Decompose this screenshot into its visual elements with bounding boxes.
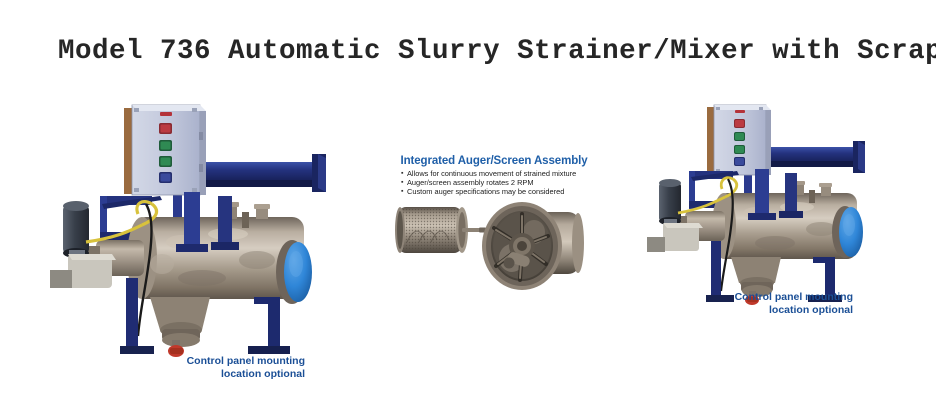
- bullet-icon: ▪: [398, 188, 407, 196]
- auger-photo-end-view: [478, 198, 584, 292]
- blue-cross-beam: [194, 154, 326, 192]
- list-item-text: Custom auger specifications may be consi…: [407, 188, 590, 196]
- machine-photo-left: [42, 92, 342, 364]
- blue-cross-beam: [765, 141, 865, 173]
- page-title: Model 736 Automatic Slurry Strainer/Mixe…: [58, 36, 936, 67]
- bullet-icon: ▪: [398, 179, 407, 187]
- list-item: ▪ Custom auger specifications may be con…: [398, 188, 590, 196]
- machine-photo-right: [645, 95, 907, 307]
- caption-left: Control panel mounting location optional: [150, 355, 305, 380]
- caption-left-line1: Control panel mounting: [150, 355, 305, 368]
- caption-right-line1: Control panel mounting: [718, 291, 853, 304]
- caption-right: Control panel mounting location optional: [718, 291, 853, 316]
- slide-canvas: Model 736 Automatic Slurry Strainer/Mixe…: [0, 0, 936, 415]
- caption-right-line2: location optional: [718, 304, 853, 317]
- auger-info-block: Integrated Auger/Screen Assembly ▪ Allow…: [398, 155, 590, 197]
- auger-photo-side-view: [393, 196, 489, 270]
- blue-end-cap: [832, 206, 863, 258]
- bullet-icon: ▪: [398, 170, 407, 178]
- blue-end-cap: [276, 240, 312, 304]
- caption-left-line2: location optional: [150, 368, 305, 381]
- auger-info-heading: Integrated Auger/Screen Assembly: [398, 155, 590, 167]
